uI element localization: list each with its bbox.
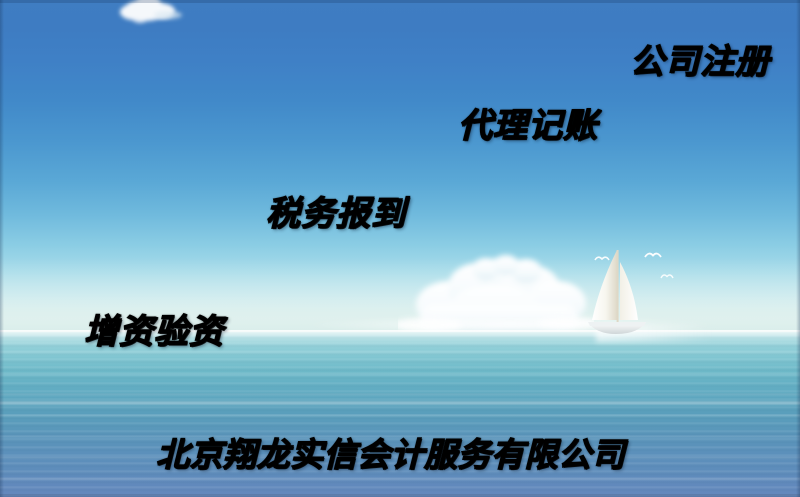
- keyword-capital-verification: 增资验资: [84, 304, 224, 353]
- frame-edge-right: [796, 0, 800, 497]
- sea-glint-band: [0, 400, 800, 406]
- cloud-top-left-icon: [112, 0, 192, 28]
- keyword-bookkeeping-agency: 代理记账: [458, 98, 598, 147]
- company-name: 北京翔龙实信会计服务有限公司: [156, 428, 625, 476]
- promotional-banner: 公司注册 代理记账 税务报到 增资验资 北京翔龙实信会计服务有限公司: [0, 0, 800, 497]
- bird-icon: [594, 254, 610, 264]
- frame-edge-top: [0, 0, 800, 3]
- bird-icon: [644, 250, 662, 261]
- bird-icon: [660, 272, 674, 281]
- keyword-tax-registration: 税务报到: [266, 186, 406, 235]
- keyword-company-registration: 公司注册: [630, 34, 770, 83]
- frame-edge-left: [0, 0, 4, 497]
